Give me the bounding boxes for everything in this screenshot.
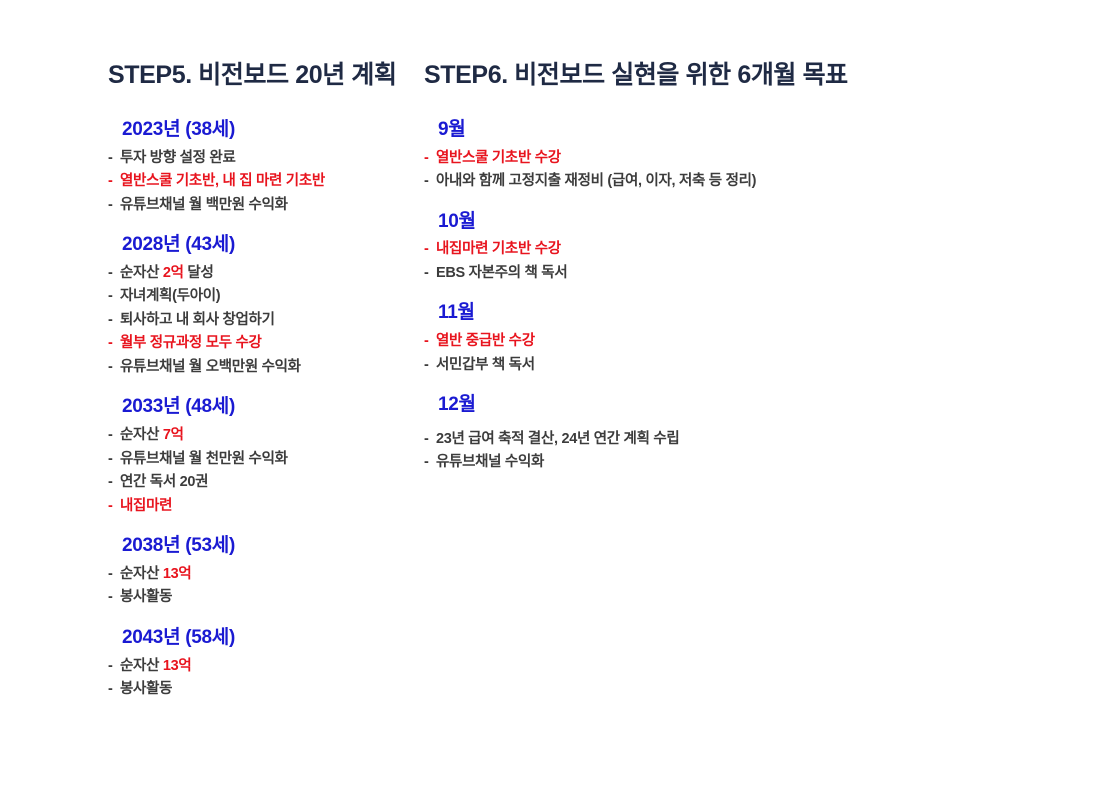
list-item: -유튜브채널 월 백만원 수익화 (108, 194, 412, 217)
bullet-dash-icon: - (108, 285, 120, 308)
bullet-dash-icon: - (108, 332, 120, 355)
list-item-label: 순자산 13억 (120, 563, 191, 586)
list-item-text-pre: 순자산 (120, 265, 163, 281)
bullet-list: -순자산 2억 달성-자녀계획(두아이)-퇴사하고 내 회사 창업하기-월부 정… (108, 262, 412, 379)
bullet-dash-icon: - (108, 309, 120, 332)
bullet-dash-icon: - (108, 471, 120, 494)
list-item: -열반 중급반 수강 (424, 330, 1111, 353)
bullet-dash-icon: - (424, 147, 436, 170)
list-item: -유튜브채널 월 오백만원 수익화 (108, 356, 412, 379)
plan-section: 2033년 (48세)-순자산 7억-유튜브채널 월 천만원 수익화-연간 독서… (108, 395, 412, 518)
bullet-list: -23년 급여 축적 결산, 24년 연간 계획 수립-유튜브채널 수익화 (424, 428, 1111, 475)
two-column-layout: STEP5. 비전보드 20년 계획 2023년 (38세)-투자 방향 설정 … (0, 60, 1111, 718)
bullet-dash-icon: - (108, 356, 120, 379)
list-item: -퇴사하고 내 회사 창업하기 (108, 309, 412, 332)
list-item-label: 열반스쿨 기초반 수강 (436, 147, 561, 170)
list-item: -순자산 13억 (108, 563, 412, 586)
bullet-dash-icon: - (108, 563, 120, 586)
column-step5: STEP5. 비전보드 20년 계획 2023년 (38세)-투자 방향 설정 … (0, 60, 412, 718)
sections-step5: 2023년 (38세)-투자 방향 설정 완료-열반스쿨 기초반, 내 집 마련… (108, 118, 412, 702)
list-item-label: 유튜브채널 월 오백만원 수익화 (120, 356, 301, 379)
section-heading: 2023년 (38세) (108, 118, 412, 142)
bullet-dash-icon: - (424, 238, 436, 261)
plan-section: 10월-내집마련 기초반 수강-EBS 자본주의 책 독서 (424, 210, 1111, 286)
list-item: -봉사활동 (108, 586, 412, 609)
bullet-dash-icon: - (424, 262, 436, 285)
list-item-label: 월부 정규과정 모두 수강 (120, 332, 262, 355)
bullet-list: -내집마련 기초반 수강-EBS 자본주의 책 독서 (424, 238, 1111, 285)
list-item-label: 아내와 함께 고정지출 재정비 (급여, 이자, 저축 등 정리) (436, 170, 756, 193)
plan-section: 2028년 (43세)-순자산 2억 달성-자녀계획(두아이)-퇴사하고 내 회… (108, 233, 412, 379)
list-item: -열반스쿨 기초반 수강 (424, 147, 1111, 170)
list-item-label: 퇴사하고 내 회사 창업하기 (120, 309, 275, 332)
bullet-list: -순자산 7억-유튜브채널 월 천만원 수익화-연간 독서 20권-내집마련 (108, 424, 412, 518)
list-item-label: 내집마련 (120, 495, 172, 518)
plan-section: 2043년 (58세)-순자산 13억-봉사활동 (108, 626, 412, 702)
plan-section: 2038년 (53세)-순자산 13억-봉사활동 (108, 534, 412, 610)
section-heading: 12월 (424, 393, 1111, 417)
section-heading: 2028년 (43세) (108, 233, 412, 257)
bullet-dash-icon: - (108, 655, 120, 678)
list-item: -월부 정규과정 모두 수강 (108, 332, 412, 355)
list-item: -내집마련 기초반 수강 (424, 238, 1111, 261)
column-step6: STEP6. 비전보드 실현을 위한 6개월 목표 9월-열반스쿨 기초반 수강… (412, 60, 1111, 491)
list-item: -열반스쿨 기초반, 내 집 마련 기초반 (108, 170, 412, 193)
list-item: -연간 독서 20권 (108, 471, 412, 494)
list-item: -순자산 13억 (108, 655, 412, 678)
bullet-dash-icon: - (108, 495, 120, 518)
list-item-text-pre: 순자산 (120, 427, 163, 443)
list-item-text-post: 달성 (184, 265, 214, 281)
list-item-label: EBS 자본주의 책 독서 (436, 262, 567, 285)
bullet-dash-icon: - (108, 194, 120, 217)
list-item-text-pre: 순자산 (120, 566, 163, 582)
bullet-dash-icon: - (424, 330, 436, 353)
list-item-label: 유튜브채널 수익화 (436, 451, 544, 474)
list-item: -EBS 자본주의 책 독서 (424, 262, 1111, 285)
list-item-label: 내집마련 기초반 수강 (436, 238, 561, 261)
list-item-label: 유튜브채널 월 백만원 수익화 (120, 194, 288, 217)
list-item: -투자 방향 설정 완료 (108, 147, 412, 170)
list-item: -봉사활동 (108, 678, 412, 701)
plan-section: 12월-23년 급여 축적 결산, 24년 연간 계획 수립-유튜브채널 수익화 (424, 393, 1111, 475)
plan-section: 2023년 (38세)-투자 방향 설정 완료-열반스쿨 기초반, 내 집 마련… (108, 118, 412, 217)
bullet-dash-icon: - (108, 678, 120, 701)
list-item-label: 열반 중급반 수강 (436, 330, 535, 353)
bullet-list: -투자 방향 설정 완료-열반스쿨 기초반, 내 집 마련 기초반-유튜브채널 … (108, 147, 412, 217)
list-item: -23년 급여 축적 결산, 24년 연간 계획 수립 (424, 428, 1111, 451)
list-item-label: 열반스쿨 기초반, 내 집 마련 기초반 (120, 170, 325, 193)
list-item: -내집마련 (108, 495, 412, 518)
bullet-dash-icon: - (108, 586, 120, 609)
bullet-dash-icon: - (108, 424, 120, 447)
list-item-label: 봉사활동 (120, 586, 172, 609)
bullet-list: -순자산 13억-봉사활동 (108, 655, 412, 702)
section-heading: 2033년 (48세) (108, 395, 412, 419)
list-item-text-pre: 순자산 (120, 658, 163, 674)
bullet-dash-icon: - (108, 262, 120, 285)
page-title-step6: STEP6. 비전보드 실현을 위한 6개월 목표 (424, 60, 1111, 90)
bullet-list: -열반스쿨 기초반 수강-아내와 함께 고정지출 재정비 (급여, 이자, 저축… (424, 147, 1111, 194)
bullet-dash-icon: - (108, 147, 120, 170)
list-item: -자녀계획(두아이) (108, 285, 412, 308)
list-item-label: 순자산 7억 (120, 424, 184, 447)
list-item-highlight: 13억 (163, 658, 192, 674)
list-item-label: 연간 독서 20권 (120, 471, 208, 494)
list-item-highlight: 7억 (163, 427, 184, 443)
section-heading: 11월 (424, 301, 1111, 325)
section-heading: 2043년 (58세) (108, 626, 412, 650)
bullet-list: -순자산 13억-봉사활동 (108, 563, 412, 610)
list-item: -순자산 7억 (108, 424, 412, 447)
list-item: -유튜브채널 수익화 (424, 451, 1111, 474)
list-item-label: 23년 급여 축적 결산, 24년 연간 계획 수립 (436, 428, 679, 451)
bullet-dash-icon: - (424, 428, 436, 451)
list-item-label: 봉사활동 (120, 678, 172, 701)
section-heading: 9월 (424, 118, 1111, 142)
section-heading: 2038년 (53세) (108, 534, 412, 558)
bullet-dash-icon: - (424, 451, 436, 474)
bullet-dash-icon: - (108, 170, 120, 193)
list-item: -아내와 함께 고정지출 재정비 (급여, 이자, 저축 등 정리) (424, 170, 1111, 193)
bullet-dash-icon: - (424, 170, 436, 193)
bullet-dash-icon: - (424, 354, 436, 377)
list-item-label: 자녀계획(두아이) (120, 285, 220, 308)
slide-canvas: STEP5. 비전보드 20년 계획 2023년 (38세)-투자 방향 설정 … (0, 0, 1111, 785)
section-heading: 10월 (424, 210, 1111, 234)
list-item-label: 서민갑부 책 독서 (436, 354, 535, 377)
list-item-label: 투자 방향 설정 완료 (120, 147, 236, 170)
plan-section: 11월-열반 중급반 수강-서민갑부 책 독서 (424, 301, 1111, 377)
page-title-step5: STEP5. 비전보드 20년 계획 (108, 60, 412, 90)
list-item: -유튜브채널 월 천만원 수익화 (108, 448, 412, 471)
bullet-dash-icon: - (108, 448, 120, 471)
list-item-label: 유튜브채널 월 천만원 수익화 (120, 448, 288, 471)
list-item-label: 순자산 13억 (120, 655, 191, 678)
list-item: -서민갑부 책 독서 (424, 354, 1111, 377)
bullet-list: -열반 중급반 수강-서민갑부 책 독서 (424, 330, 1111, 377)
list-item-highlight: 13억 (163, 566, 192, 582)
list-item-highlight: 2억 (163, 265, 184, 281)
list-item: -순자산 2억 달성 (108, 262, 412, 285)
plan-section: 9월-열반스쿨 기초반 수강-아내와 함께 고정지출 재정비 (급여, 이자, … (424, 118, 1111, 194)
sections-step6: 9월-열반스쿨 기초반 수강-아내와 함께 고정지출 재정비 (급여, 이자, … (424, 118, 1111, 475)
list-item-label: 순자산 2억 달성 (120, 262, 213, 285)
